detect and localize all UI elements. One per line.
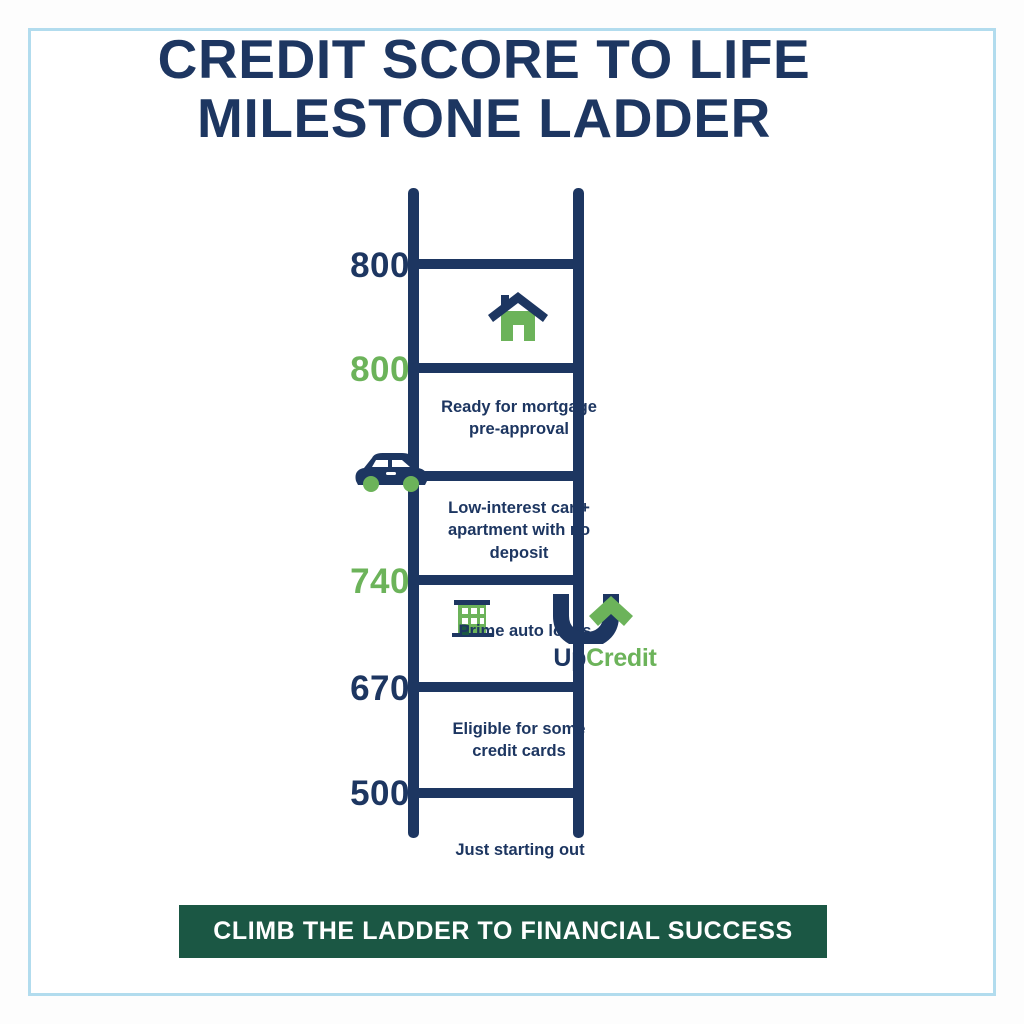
logo-word-up: Up xyxy=(553,644,586,672)
ladder-rung-2 xyxy=(412,363,580,373)
page-title-line-1: Credit Score to Life xyxy=(62,30,906,89)
score-label-740: 740 xyxy=(280,562,410,602)
infographic-canvas: Credit Score to Life Milestone Ladder 80… xyxy=(0,0,1024,1024)
up-arrow-loop-icon xyxy=(553,588,643,644)
page-title-line-2: Milestone Ladder xyxy=(62,89,906,148)
page-title: Credit Score to Life Milestone Ladder xyxy=(62,30,906,148)
score-label-800-top: 800 xyxy=(280,246,410,286)
score-label-800-green: 800 xyxy=(280,350,410,390)
ladder-rung-5 xyxy=(412,682,580,692)
ladder-rail-left xyxy=(408,188,419,838)
upcredit-logo: UpCredit xyxy=(545,588,665,678)
ladder-rung-1 xyxy=(412,259,580,269)
step-label-car-apartment: Low-interest car + apartment with no dep… xyxy=(436,497,602,564)
score-axis-labels: 800 800 740 670 500 xyxy=(270,188,410,838)
ladder-rung-6 xyxy=(412,788,580,798)
house-icon xyxy=(487,289,549,341)
logo-word-credit: Credit xyxy=(586,644,656,672)
car-icon xyxy=(352,451,430,495)
footer-banner: Climb the Ladder to Financial Success xyxy=(179,905,827,958)
score-label-670: 670 xyxy=(280,669,410,709)
ladder-rung-3 xyxy=(412,471,580,481)
step-label-credit-cards: Eligible for some credit cards xyxy=(436,718,602,763)
score-label-500: 500 xyxy=(280,774,410,814)
step-label-mortgage: Ready for mortgage pre-approval xyxy=(436,396,602,441)
ladder-bottom-caption: Just starting out xyxy=(420,841,620,860)
ladder-rung-4 xyxy=(412,575,580,585)
upcredit-wordmark: UpCredit xyxy=(545,644,665,673)
footer-banner-text: Climb the Ladder to Financial Success xyxy=(213,917,793,946)
